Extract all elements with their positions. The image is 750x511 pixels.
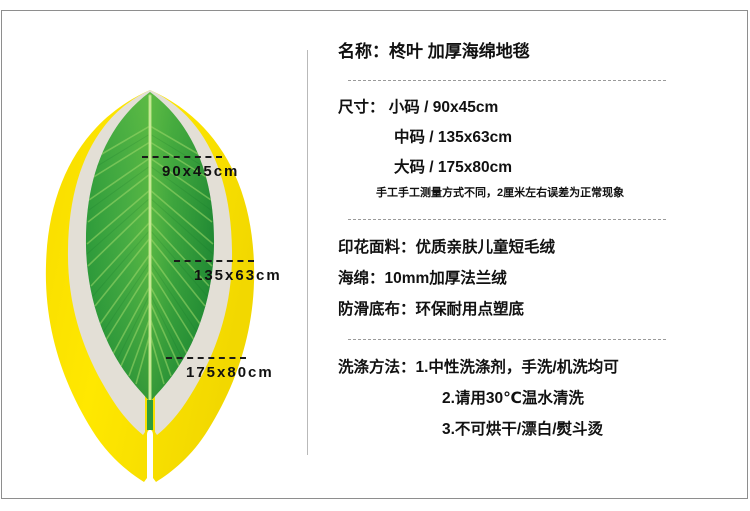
callout-size-small: 90x45cm (136, 156, 296, 180)
size-row-small: 尺寸： 小码 / 90x45cm (338, 93, 738, 123)
callout-leader-line-large (166, 357, 246, 359)
material-fabric: 印花面料：优质亲肤儿童短毛绒 (338, 232, 738, 263)
product-infographic: 90x45cm 135x63cm 175x80cm 名称：柊叶 加厚海绵地毯 尺… (0, 0, 750, 511)
callout-leader-line-medium (174, 260, 254, 262)
wash-instruction-2: 2.请用30℃温水清洗 (338, 383, 738, 414)
callout-leader-line-small (142, 156, 222, 158)
size-row-large: 大码 / 175x80cm (338, 153, 738, 183)
material-backing: 防滑底布：环保耐用点塑底 (338, 294, 738, 325)
callout-label-small: 90x45cm (162, 163, 296, 180)
callout-size-large: 175x80cm (160, 357, 320, 381)
material-sponge: 海绵：10mm加厚法兰绒 (338, 263, 738, 294)
callout-label-large: 175x80cm (186, 364, 320, 381)
spec-panel: 名称：柊叶 加厚海绵地毯 尺寸： 小码 / 90x45cm 中码 / 135x6… (338, 38, 738, 478)
product-name: 名称：柊叶 加厚海绵地毯 (338, 38, 738, 66)
measurement-note: 手工手工测量方式不同，2厘米左右误差为正常现象 (338, 183, 738, 203)
leaf-figure: 90x45cm 135x63cm 175x80cm (0, 30, 300, 490)
wash-instruction-3: 3.不可烘干/漂白/熨斗烫 (338, 414, 738, 445)
callout-size-medium: 135x63cm (168, 260, 328, 284)
vertical-divider (307, 50, 308, 455)
wash-instruction-1: 洗涤方法：1.中性洗涤剂，手洗/机洗均可 (338, 352, 738, 383)
size-row-medium: 中码 / 135x63cm (338, 123, 738, 153)
